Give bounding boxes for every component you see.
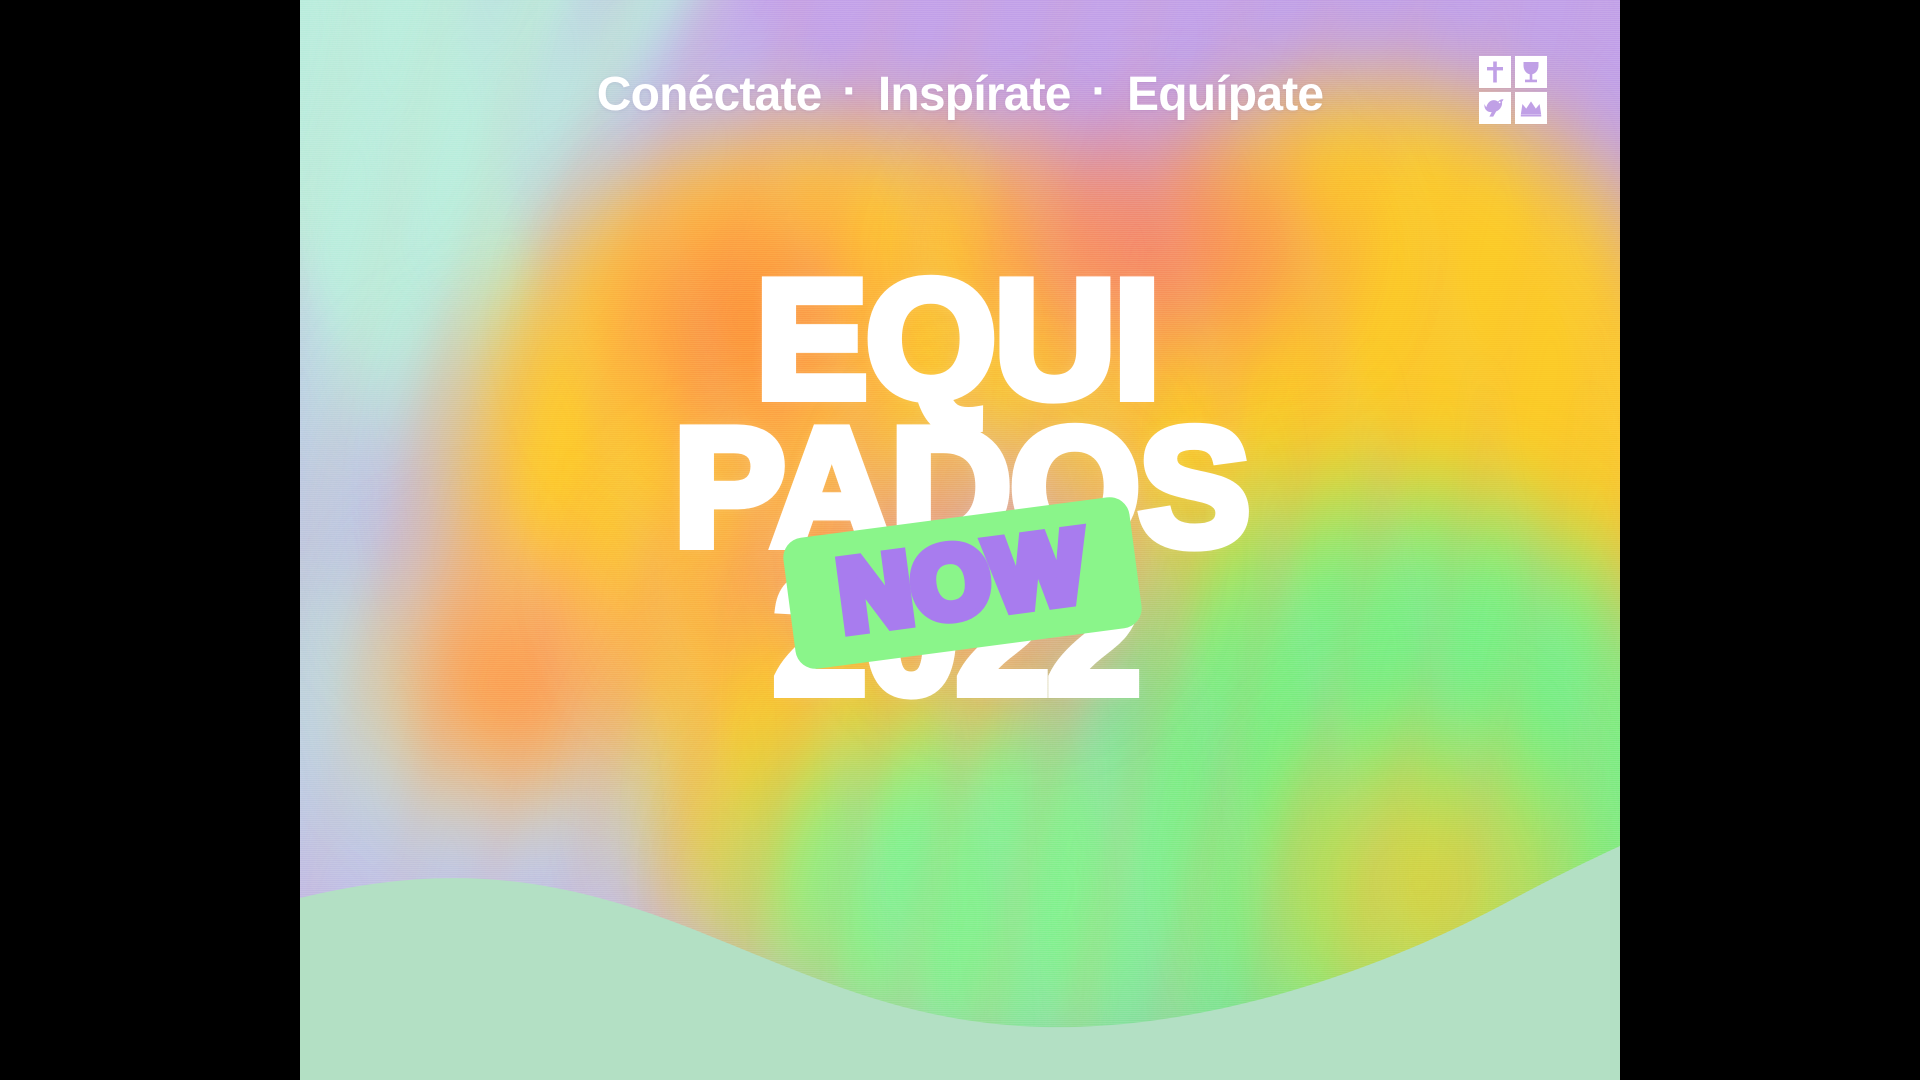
- tagline-part-inspirate: Inspírate: [878, 68, 1071, 121]
- header-bar: Conéctate · Inspírate · Equípate: [300, 58, 1620, 130]
- now-badge-label: NOW: [833, 515, 1091, 646]
- tagline-separator: ·: [834, 64, 865, 119]
- screenshot-canvas: Conéctate · Inspírate · Equípate: [0, 0, 1920, 1080]
- cross-icon: [1479, 56, 1511, 88]
- tagline-part-conectate: Conéctate: [597, 68, 822, 121]
- tagline-part-equipate: Equípate: [1127, 68, 1323, 121]
- chalice-icon: [1515, 56, 1547, 88]
- crown-icon: [1515, 92, 1547, 124]
- poster-artboard: Conéctate · Inspírate · Equípate: [300, 0, 1620, 1080]
- tagline-separator: ·: [1083, 64, 1114, 119]
- dove-icon: [1479, 92, 1511, 124]
- tagline: Conéctate · Inspírate · Equípate: [597, 67, 1324, 122]
- foursquare-church-logo: [1479, 56, 1547, 124]
